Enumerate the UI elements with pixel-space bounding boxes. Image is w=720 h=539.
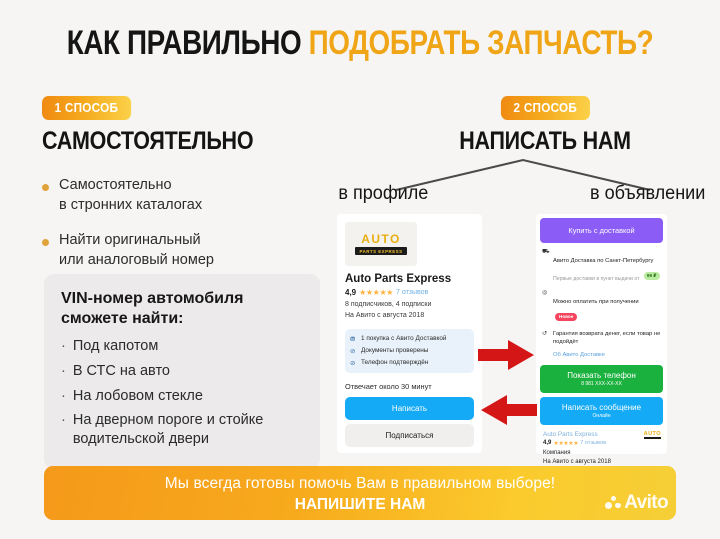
delivery-sub-text: Первые доставки в пункт выдачи от	[553, 276, 639, 282]
show-phone-button[interactable]: Показать телефон 8 981 XXX-XX-XX	[540, 365, 663, 393]
step-1-column: 1 СПОСОБ САМОСТОЯТЕЛЬНО Самостоятельно в…	[42, 96, 332, 286]
branch-label-profile: в профиле	[338, 183, 428, 205]
write-message-button[interactable]: Написать	[345, 397, 474, 420]
avito-logo: Avito	[605, 492, 668, 514]
step-1-heading: САМОСТОЯТЕЛЬНО	[42, 127, 291, 156]
vin-item-label: Под капотом	[73, 337, 159, 356]
listing-screenshot-card: Купить с доставкой ⛟ Авито Доставка по С…	[536, 214, 667, 454]
vin-item-label: На лобовом стекле	[73, 387, 203, 406]
step-1-badge: 1 СПОСОБ	[42, 96, 131, 120]
step-2-column: 2 СПОСОБ НАПИСАТЬ НАМ	[400, 96, 690, 156]
trust-badge: ⊘ Документы проверены	[350, 345, 469, 357]
truck-icon: ⛟	[542, 249, 549, 285]
trust-badge-label: 1 покупка с Авито Доставкой	[361, 335, 446, 342]
rating-row: 4,9 ★★★★★ 7 отзывов	[345, 288, 474, 297]
wallet-icon: ◎	[542, 290, 549, 326]
branch-label-listing: в объявлении	[590, 183, 705, 205]
list-item: · На дверном пороге и стойке водительско…	[61, 411, 304, 449]
vin-info-card: VIN-номер автомобиля сможете найти: · По…	[44, 274, 320, 469]
vin-card-title: VIN-номер автомобиля сможете найти:	[61, 289, 304, 330]
stars-icon: ★★★★★	[553, 440, 578, 447]
step-2-heading: НАПИСАТЬ НАМ	[420, 127, 669, 156]
show-phone-label: Показать телефон	[540, 371, 663, 380]
reply-time-note: Отвечает около 30 минут	[345, 382, 474, 391]
shop-name: Auto Parts Express	[345, 273, 474, 285]
trust-badge-label: Документы проверены	[361, 347, 428, 354]
page-title-gold: ПОДОБРАТЬ ЗАПЧАСТЬ?	[309, 24, 654, 62]
bullet-text: Самостоятельно в стронних каталогах	[59, 176, 202, 215]
profile-screenshot-card: AUTO PARTS EXPRESS Auto Parts Express 4,…	[337, 214, 482, 453]
cta-line-1: Мы всегда готовы помочь Вам в правильном…	[44, 475, 676, 493]
dot-icon: ·	[61, 337, 66, 356]
stars-icon: ★★★★★	[359, 288, 393, 297]
list-item: ⛟ Авито Доставка по Санкт-Петербургу Пер…	[542, 249, 661, 285]
delivery-info-list: ⛟ Авито Доставка по Санкт-Петербургу Пер…	[540, 243, 663, 360]
write-message-label: Написать сообщение	[540, 403, 663, 412]
check-circle-icon: ⊘	[350, 359, 357, 366]
dot-icon: ·	[61, 387, 66, 406]
bullet-text: Найти оригинальный или аналоговый номер	[59, 231, 214, 270]
delivery-main-text: Можно оплатить при получении	[553, 299, 639, 305]
online-status: Онлайн	[540, 413, 663, 419]
seller-rating-row: 4,9 ★★★★★ 7 отзывов	[543, 440, 660, 447]
bullet-dot-icon	[42, 184, 49, 191]
dot-icon: ·	[61, 411, 66, 449]
shop-logo-main: AUTO	[361, 233, 400, 245]
trust-badge-label: Телефон подтверждён	[361, 359, 428, 366]
seller-type: Компания	[543, 449, 660, 458]
list-item: ◎ Можно оплатить при полученииНовое	[542, 290, 661, 326]
page-title: КАК ПРАВИЛЬНО ПОДОБРАТЬ ЗАПЧАСТЬ?	[65, 24, 655, 63]
delivery-main-text: Гарантия возврата денег, если товар не п…	[553, 331, 661, 347]
cart-icon: ⛃	[350, 335, 357, 342]
list-item: Самостоятельно в стронних каталогах	[42, 176, 332, 215]
trust-badge: ⛃ 1 покупка с Авито Доставкой	[350, 333, 469, 345]
shop-logo: AUTO PARTS EXPRESS	[345, 222, 417, 266]
return-icon: ↺	[542, 331, 549, 347]
avito-dots-icon	[605, 495, 622, 512]
red-arrow-left-icon	[481, 395, 537, 425]
branch-labels: в профиле в объявлении	[336, 183, 708, 205]
new-badge: Новое	[555, 313, 577, 321]
seller-rating-value: 4,9	[543, 440, 551, 446]
vin-item-label: В СТС на авто	[73, 362, 170, 381]
seller-reviews-link[interactable]: 7 отзывов	[580, 440, 606, 446]
delivery-main-text: Авито Доставка по Санкт-Петербургу	[553, 258, 653, 264]
subscribe-button[interactable]: Подписаться	[345, 424, 474, 447]
seller-logo: AUTO	[644, 431, 661, 439]
write-message-button[interactable]: Написать сообщение Онлайн	[540, 397, 663, 425]
list-item: · Под капотом	[61, 337, 304, 356]
bullet-dot-icon	[42, 239, 49, 246]
price-pill: 99 ₽	[644, 272, 660, 280]
buy-with-delivery-button[interactable]: Купить с доставкой	[540, 218, 663, 243]
member-since: На Авито с августа 2018	[345, 311, 474, 322]
list-item: · В СТС на авто	[61, 362, 304, 381]
shop-logo-sub: PARTS EXPRESS	[355, 247, 406, 255]
rating-value: 4,9	[345, 288, 356, 297]
cta-line-2: НАПИШИТЕ НАМ	[44, 496, 676, 514]
page-title-dark: КАК ПРАВИЛЬНО	[67, 24, 302, 62]
red-arrow-right-icon	[478, 340, 534, 370]
reviews-link[interactable]: 7 отзывов	[396, 289, 428, 296]
list-item: · На лобовом стекле	[61, 387, 304, 406]
list-item: ↺ Гарантия возврата денег, если товар не…	[542, 331, 661, 347]
phone-number: 8 981 XXX-XX-XX	[540, 381, 663, 387]
step-2-badge: 2 СПОСОБ	[501, 96, 590, 120]
about-delivery-link[interactable]: Об Авито Доставке	[553, 352, 661, 358]
vin-item-label: На дверном пороге и стойке водительской …	[73, 411, 263, 449]
trust-badge-box: ⛃ 1 покупка с Авито Доставкой ⊘ Документ…	[345, 329, 474, 373]
poster-canvas: КАК ПРАВИЛЬНО ПОДОБРАТЬ ЗАПЧАСТЬ? 1 СПОС…	[0, 0, 720, 539]
cta-banner: Мы всегда готовы помочь Вам в правильном…	[44, 466, 676, 520]
trust-badge: ⊘ Телефон подтверждён	[350, 357, 469, 369]
dot-icon: ·	[61, 362, 66, 381]
seller-name[interactable]: Auto Parts Express	[543, 431, 660, 438]
list-item: Найти оригинальный или аналоговый номер	[42, 231, 332, 270]
step-1-bullet-list: Самостоятельно в стронних каталогах Найт…	[42, 176, 332, 270]
avito-wordmark: Avito	[624, 492, 668, 514]
check-circle-icon: ⊘	[350, 347, 357, 354]
followers-count: 8 подписчиков, 4 подписки	[345, 300, 474, 311]
